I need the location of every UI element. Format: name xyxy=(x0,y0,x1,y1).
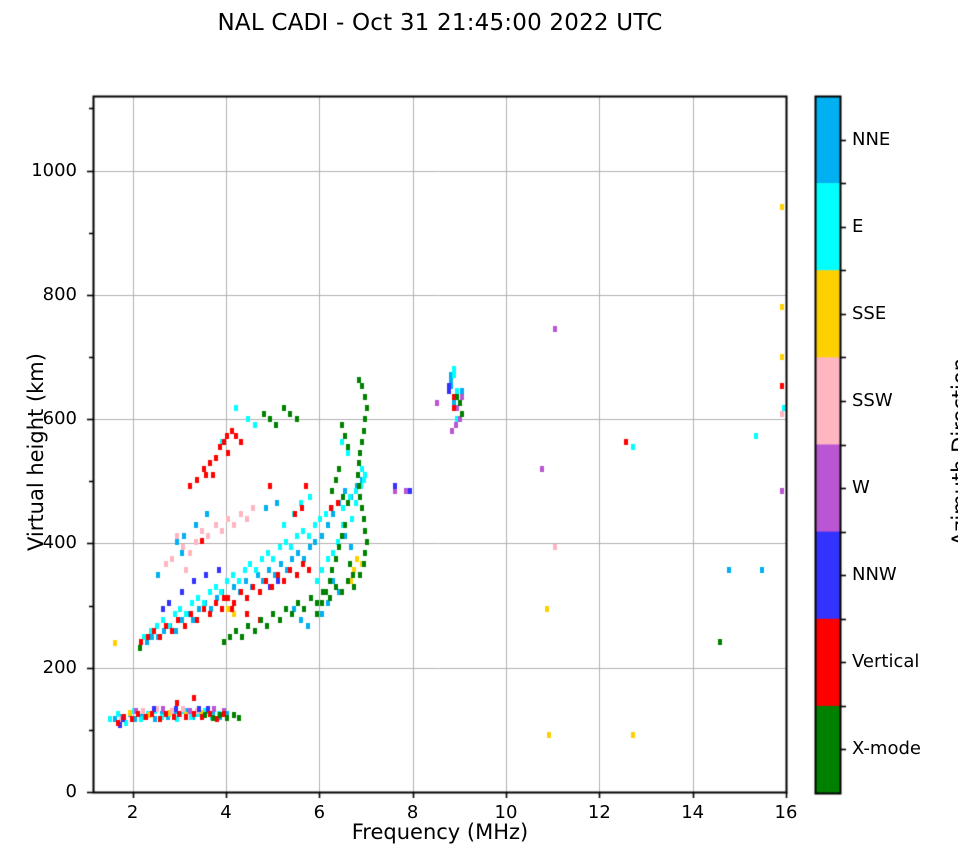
y-tick-label: 200 xyxy=(0,657,77,678)
y-axis-label: Virtual height (km) xyxy=(24,252,48,652)
x-tick-label: 10 xyxy=(466,802,546,823)
x-tick-label: 16 xyxy=(746,802,826,823)
y-tick-label: 0 xyxy=(0,781,77,802)
colorbar-tick-label-e: E xyxy=(852,216,958,237)
colorbar-tick-label-nnw: NNW xyxy=(852,564,958,585)
colorbar-tick-label-vertical: Vertical xyxy=(852,651,958,672)
y-tick-label: 400 xyxy=(0,532,77,553)
x-tick-label: 12 xyxy=(559,802,639,823)
ionogram-scatter-canvas[interactable] xyxy=(0,0,958,857)
x-axis-label: Frequency (MHz) xyxy=(0,820,880,844)
x-tick-label: 8 xyxy=(373,802,453,823)
colorbar-tick-label-x-mode: X-mode xyxy=(852,738,958,759)
x-tick-label: 4 xyxy=(186,802,266,823)
colorbar-tick-label-ssw: SSW xyxy=(852,390,958,411)
y-tick-label: 800 xyxy=(0,284,77,305)
colorbar-tick-label-nne: NNE xyxy=(852,129,958,150)
y-tick-label: 600 xyxy=(0,408,77,429)
x-tick-label: 2 xyxy=(93,802,173,823)
x-tick-label: 14 xyxy=(653,802,733,823)
ionogram-figure: NAL CADI - Oct 31 21:45:00 2022 UTC Freq… xyxy=(0,0,958,857)
x-tick-label: 6 xyxy=(279,802,359,823)
colorbar-tick-label-w: W xyxy=(852,477,958,498)
y-tick-label: 1000 xyxy=(0,160,77,181)
colorbar-tick-label-sse: SSE xyxy=(852,303,958,324)
